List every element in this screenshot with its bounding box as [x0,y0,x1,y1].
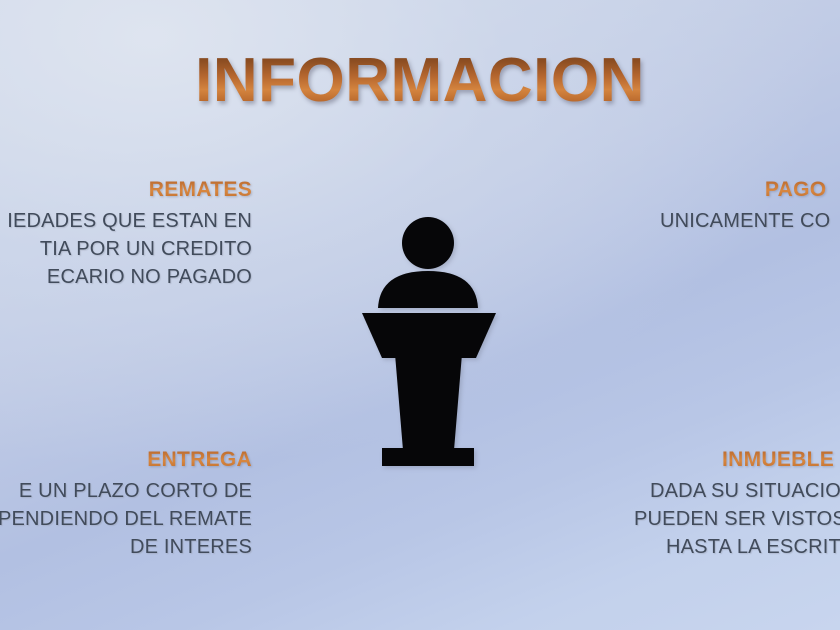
info-block-remates-line-2: TIA POR UN CREDITO [7,235,252,263]
page-title: INFORMACION [0,50,840,112]
info-block-remates-line-3: ECARIO NO PAGADO [7,263,252,291]
info-block-inmuebles-line-1: DADA SU SITUACION [650,477,840,505]
info-block-remates: REMATES IEDADES QUE ESTAN EN TIA POR UN … [7,178,252,291]
info-block-inmuebles-heading: INMUEBLE [722,448,840,471]
info-block-remates-heading: REMATES [7,178,252,201]
info-block-remates-line-1: IEDADES QUE ESTAN EN [7,207,252,235]
info-block-pago-heading: PAGO [622,178,830,201]
info-block-entrega: ENTREGA E UN PLAZO CORTO DE PENDIENDO DE… [0,448,252,561]
info-block-inmuebles-line-2: PUEDEN SER VISTOS P [634,505,840,533]
info-block-entrega-line-3: DE INTERES [0,533,252,561]
info-block-entrega-line-1: E UN PLAZO CORTO DE [0,477,252,505]
info-block-entrega-line-2: PENDIENDO DEL REMATE [0,505,252,533]
info-block-pago-line-1: UNICAMENTE CO [660,207,830,235]
presentation-slide: INFORMACION REMATES IEDADES QUE ESTAN EN… [0,0,840,630]
info-block-pago: PAGO UNICAMENTE CO [622,178,830,235]
info-block-inmuebles-line-3: HASTA LA ESCRITU [666,533,840,561]
info-block-entrega-heading: ENTREGA [0,448,252,471]
info-block-inmuebles: INMUEBLE DADA SU SITUACION PUEDEN SER VI… [622,448,840,561]
podium-speaker-icon [340,208,520,478]
